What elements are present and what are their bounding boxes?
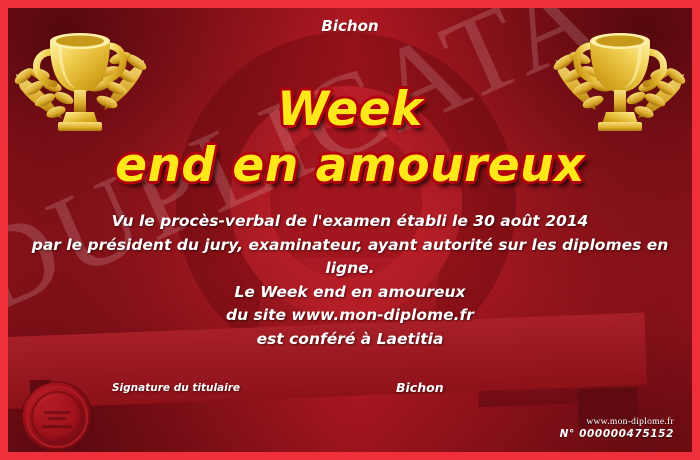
wax-seal-icon: [20, 380, 94, 452]
body-line: est conféré à Laetitia: [8, 328, 692, 352]
body-line: du site www.mon-diplome.fr: [8, 304, 692, 328]
signature-label: Signature du titulaire: [112, 382, 240, 394]
certificate-body: Vu le procès-verbal de l'examen établi l…: [8, 210, 692, 351]
certificate: DUPLICATA: [0, 0, 700, 460]
body-line: Vu le procès-verbal de l'examen établi l…: [8, 210, 692, 234]
body-line: par le président du jury, examinateur, a…: [8, 234, 692, 281]
footer-serial-number: N° 000000475152: [560, 428, 674, 440]
signature-name: Bichon: [396, 380, 444, 395]
header-holder-name: Bichon: [8, 17, 692, 35]
certificate-field: DUPLICATA: [8, 8, 692, 452]
certificate-title: Week end en amoureux: [8, 80, 692, 196]
title-line-1: Week: [8, 80, 692, 140]
certificate-footer: www.mon-diplome.fr N° 000000475152: [560, 417, 674, 440]
title-line-2: end en amoureux: [8, 136, 692, 196]
footer-website: www.mon-diplome.fr: [560, 417, 674, 427]
body-line: Le Week end en amoureux: [8, 281, 692, 305]
